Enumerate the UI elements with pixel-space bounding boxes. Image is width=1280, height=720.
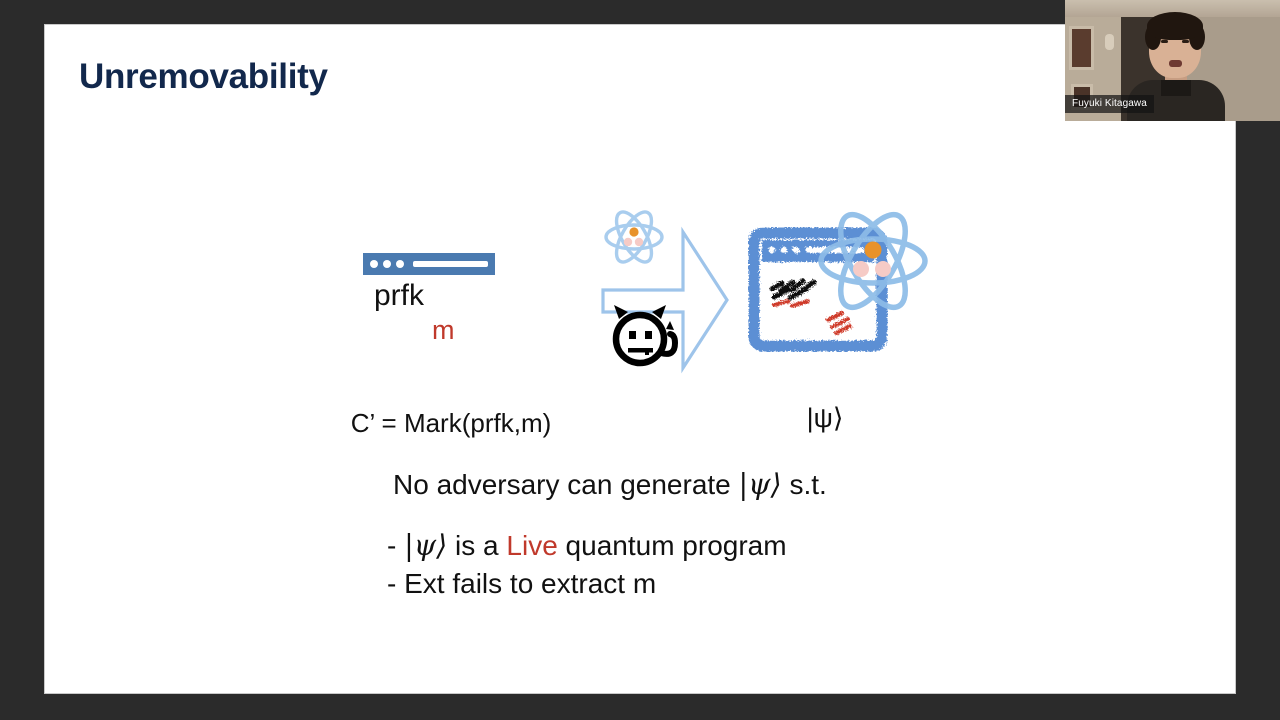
bullet-ket: |ψ⟩ (404, 528, 447, 562)
cam-person-eye (1161, 40, 1168, 43)
atom-icon (815, 203, 931, 319)
presentation-stage: Unremovability prfk m C’ = Mark(prfk,m) (0, 0, 1280, 720)
statement-after: s.t. (782, 469, 827, 500)
cam-person-mouth (1169, 60, 1182, 67)
bullet-dash: - (387, 530, 404, 561)
window-titlebar (363, 253, 495, 275)
bullet-item-live: - |ψ⟩ is a Live quantum program (387, 528, 787, 562)
devil-face-icon (603, 303, 687, 369)
cam-wall-lamp (1105, 34, 1114, 50)
window-body: prfk m (363, 275, 495, 365)
webcam-video-tile[interactable]: Fuyuki Kitagawa (1065, 0, 1280, 121)
bullet-text: Ext fails to extract m (404, 568, 656, 599)
cam-wall-picture (1069, 26, 1094, 70)
cam-person-eye (1182, 40, 1189, 43)
cam-person-hair (1147, 12, 1203, 40)
left-program-caption: C’ = Mark(prfk,m) (321, 408, 581, 439)
statement-line: No adversary can generate |ψ⟩ s.t. (393, 467, 827, 501)
bullet-tail: quantum program (558, 530, 787, 561)
statement-ket: |ψ⟩ (739, 467, 782, 501)
cam-person-collar (1161, 80, 1191, 96)
window-dot-icon (370, 260, 378, 268)
atom-icon (602, 205, 666, 269)
left-program-window-icon: prfk m (363, 253, 495, 365)
bullet-item-ext: - Ext fails to extract m (387, 568, 656, 600)
right-program-caption: |ψ⟩ (765, 403, 885, 434)
program-key-label: prfk (374, 281, 424, 311)
slide-canvas: Unremovability prfk m C’ = Mark(prfk,m) (45, 25, 1235, 693)
window-addressbar-icon (413, 261, 488, 267)
window-dot-icon (383, 260, 391, 268)
bullet-mid: is a (447, 530, 506, 561)
bullet-dash: - (387, 568, 404, 599)
participant-name-label: Fuyuki Kitagawa (1065, 95, 1154, 113)
window-dot-icon (396, 260, 404, 268)
bullet-highlight: Live (506, 530, 557, 561)
statement-before: No adversary can generate (393, 469, 739, 500)
program-mark-label: m (432, 317, 455, 344)
